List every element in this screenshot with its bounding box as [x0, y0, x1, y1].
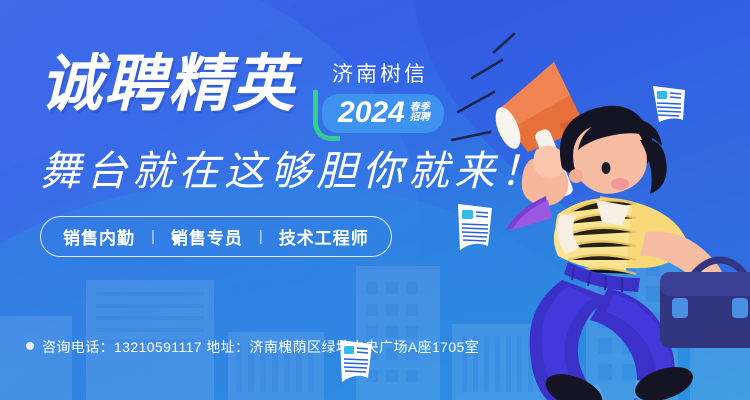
- character-eye: [602, 162, 611, 174]
- position-item-3[interactable]: 技术工程师: [279, 224, 369, 249]
- badge-block: 济南树信 2024 春 季 招 聘: [310, 58, 444, 133]
- positions-pill: 销售内勤 | 销售专员 | 技术工程师: [40, 216, 392, 257]
- season-char-4: 聘: [420, 113, 430, 124]
- season-label: 春 季 招 聘: [410, 103, 430, 124]
- season-recruitment-badge: 2024 春 季 招 聘: [322, 94, 444, 133]
- page-title: 诚聘精英: [40, 54, 296, 116]
- year-label: 2024: [338, 98, 405, 128]
- position-separator-1: |: [151, 228, 155, 245]
- green-hook-accent-icon: [313, 90, 340, 141]
- jumping-businessman-illustration: [450, 0, 750, 400]
- position-item-1[interactable]: 销售内勤: [63, 224, 135, 249]
- character-blush: [611, 178, 629, 190]
- resume-document-icon: [330, 332, 380, 386]
- company-name: 济南树信: [332, 58, 444, 88]
- season-char-3: 招: [410, 113, 420, 124]
- position-separator-2: |: [259, 228, 263, 245]
- contact-info: 咨询电话：13210591117 地址：济南槐荫区绿地中央广场A座1705室: [42, 337, 479, 357]
- recruitment-banner: 诚聘精英 济南树信 2024 春 季 招 聘 舞台就在这够胆你就来！ 销售内勤: [0, 0, 750, 400]
- position-item-2[interactable]: 销售专员: [171, 224, 243, 249]
